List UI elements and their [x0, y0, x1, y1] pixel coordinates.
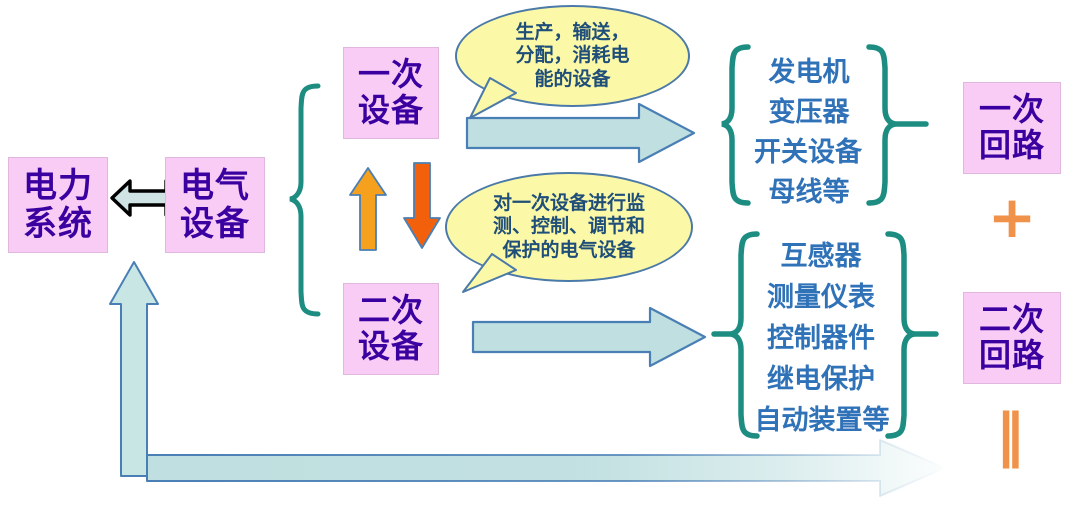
plus-symbol-icon: +	[963, 188, 1061, 246]
node-power-system[interactable]: 电力 系统	[8, 157, 108, 253]
node-primary-equipment-line1: 一次	[358, 57, 424, 93]
node-power-system-line2: 系统	[23, 205, 93, 243]
node-secondary-circuit-line2: 回路	[979, 338, 1045, 374]
node-primary-circuit-line2: 回路	[979, 128, 1045, 164]
secondary-list-item-4: 自动装置等	[751, 398, 893, 437]
primary-list-item-3: 母线等	[748, 170, 870, 209]
node-primary-circuit-line1: 一次	[979, 92, 1045, 128]
node-primary-circuit[interactable]: 一次 回路	[963, 82, 1061, 174]
primary-list-item-1: 变压器	[748, 90, 870, 129]
equipment-group-brace	[290, 86, 318, 314]
node-primary-equipment-line2: 设备	[358, 93, 424, 129]
node-electrical-equipment-line2: 设备	[180, 205, 250, 243]
orange-up-arrow	[350, 168, 386, 250]
node-secondary-circuit-line1: 二次	[979, 302, 1045, 338]
callout-primary-definition-text: 生产，输送， 分配，消耗电 能的设备	[505, 21, 639, 91]
node-power-system-line1: 电力	[23, 167, 93, 205]
node-secondary-equipment-line2: 设备	[358, 329, 424, 365]
orange-down-arrow	[404, 163, 440, 248]
primary-list-item-2: 开关设备	[742, 130, 874, 169]
primary-list-right-brace	[869, 47, 895, 203]
secondary-list-item-0: 互感器	[757, 234, 885, 273]
secondary-list-item-1: 测量仪表	[757, 275, 885, 314]
callout-primary-definition: 生产，输送， 分配，消耗电 能的设备	[455, 5, 690, 107]
node-secondary-circuit[interactable]: 二次 回路	[963, 292, 1061, 384]
node-secondary-equipment[interactable]: 二次 设备	[343, 283, 439, 375]
primary-flow-arrow	[467, 104, 694, 162]
primary-list-item-0: 发电机	[748, 50, 870, 89]
secondary-list-item-2: 控制器件	[757, 316, 885, 355]
feedback-up-arrow	[110, 262, 158, 476]
secondary-list-item-3: 继电保护	[757, 357, 885, 396]
feedback-horizontal-arrow	[147, 440, 945, 496]
diagram-canvas: 电力 系统 电气 设备 一次 设备 二次 设备 一次 回路 二次 回路 + ‖ …	[0, 0, 1080, 511]
callout-secondary-definition: 对一次设备进行监 测、控制、调节和 保护的电气设备	[445, 172, 693, 282]
node-primary-equipment[interactable]: 一次 设备	[343, 47, 439, 139]
node-electrical-equipment-line1: 电气	[180, 167, 250, 205]
primary-list-left-brace	[722, 47, 748, 203]
double-bar-symbol-icon: ‖	[963, 406, 1061, 464]
node-secondary-equipment-line1: 二次	[358, 293, 424, 329]
secondary-flow-arrow	[473, 308, 705, 366]
node-electrical-equipment[interactable]: 电气 设备	[165, 157, 265, 253]
callout-secondary-definition-text: 对一次设备进行监 测、控制、调节和 保护的电气设备	[483, 192, 655, 262]
